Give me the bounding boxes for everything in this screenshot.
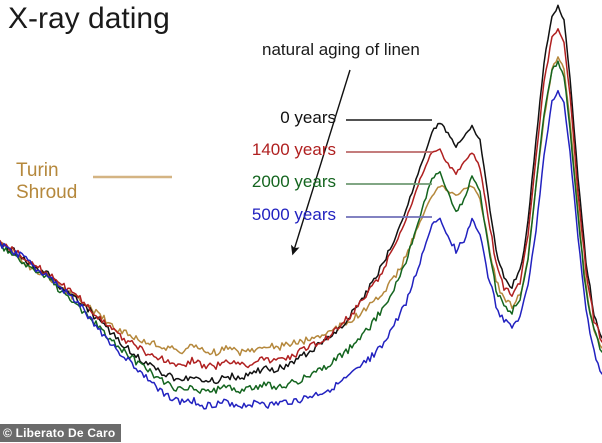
legend-label-5000-years: 5000 years — [120, 205, 336, 225]
legend-label-1400-years: 1400 years — [120, 140, 336, 160]
turin-shroud-label-line2: Shroud — [16, 182, 77, 204]
legend-label-0-years: 0 years — [120, 108, 336, 128]
curve-5000-years — [0, 91, 602, 409]
page-title: X-ray dating — [8, 2, 170, 36]
annotation-natural-aging: natural aging of linen — [262, 40, 420, 60]
turin-shroud-label-line1: Turin — [16, 160, 59, 182]
watermark-credit: © Liberato De Caro — [0, 424, 121, 442]
xray-dating-figure: X-ray dating natural aging of linen Turi… — [0, 0, 602, 443]
legend-label-2000-years: 2000 years — [120, 172, 336, 192]
